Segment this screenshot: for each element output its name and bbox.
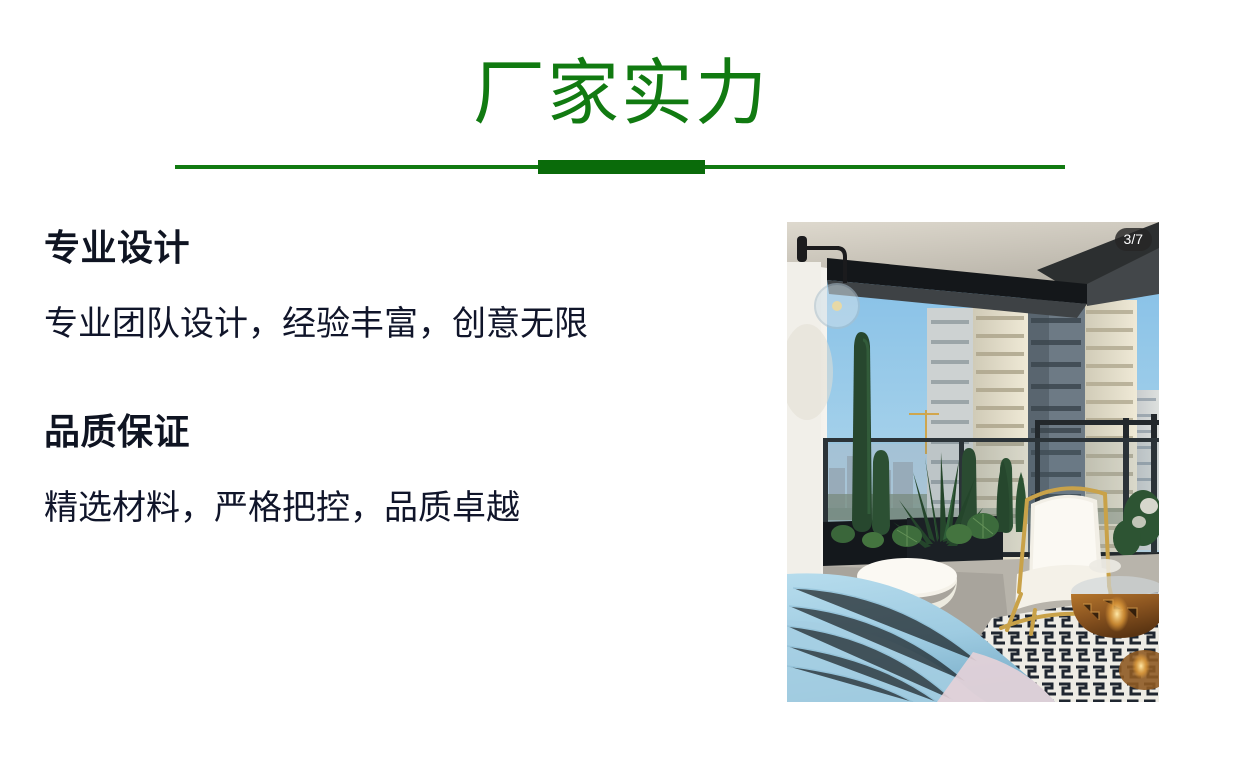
content-block-2: 品质保证 精选材料，严格把控，品质卓越: [44, 406, 724, 538]
title-divider-accent: [538, 160, 705, 174]
content-block-1: 专业设计 专业团队设计，经验丰富，创意无限: [44, 222, 724, 354]
block-heading-1: 专业设计: [44, 222, 724, 274]
content-column: 专业设计 专业团队设计，经验丰富，创意无限 品质保证 精选材料，严格把控，品质卓…: [44, 222, 724, 538]
block-body-1: 专业团队设计，经验丰富，创意无限: [44, 294, 699, 354]
block-heading-2: 品质保证: [44, 406, 724, 458]
slide-root: 厂家实力 专业设计 专业团队设计，经验丰富，创意无限 品质保证 精选材料，严格把…: [0, 0, 1242, 762]
balcony-photo: 3/7: [787, 222, 1159, 702]
balcony-photo-image: [787, 222, 1159, 702]
page-title: 厂家实力: [0, 52, 1242, 136]
photo-index-badge: 3/7: [1115, 228, 1152, 251]
block-body-2: 精选材料，严格把控，品质卓越: [44, 478, 699, 538]
